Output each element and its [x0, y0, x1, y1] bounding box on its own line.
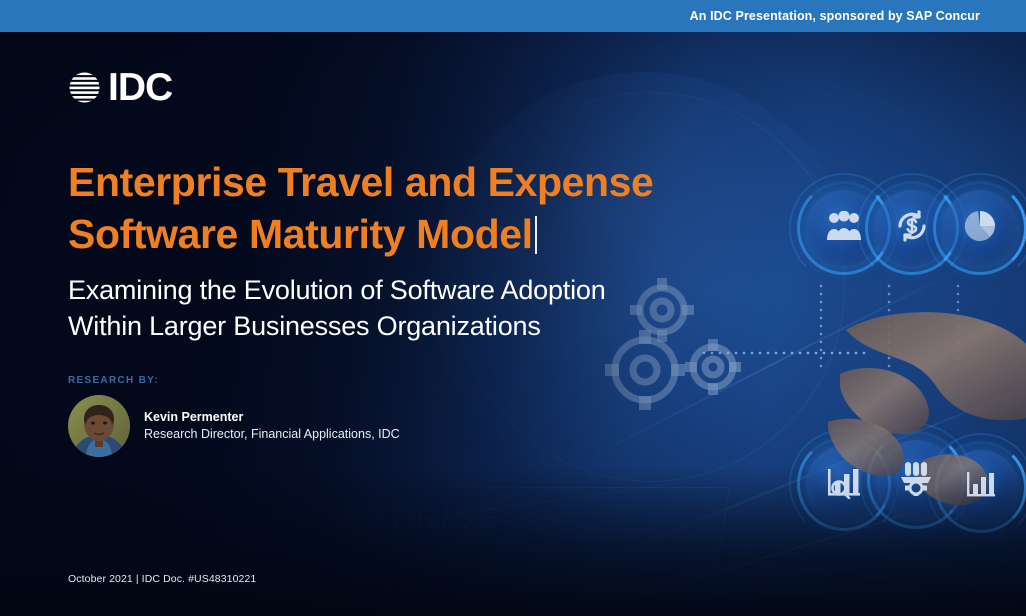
- page-title: Enterprise Travel and Expense Software M…: [68, 156, 808, 261]
- idc-wordmark: IDC: [108, 68, 172, 107]
- avatar: [68, 395, 130, 457]
- author-byline: Kevin Permenter Research Director, Finan…: [68, 395, 400, 457]
- sponsor-banner: An IDC Presentation, sponsored by SAP Co…: [0, 0, 1026, 32]
- page-title-line-1: Enterprise Travel and Expense: [68, 159, 653, 205]
- page-subtitle: Examining the Evolution of Software Adop…: [68, 273, 758, 345]
- idc-globe-icon: [68, 71, 101, 104]
- sponsor-banner-text: An IDC Presentation, sponsored by SAP Co…: [690, 9, 980, 23]
- text-cursor: [535, 216, 537, 254]
- document-footer: October 2021 | IDC Doc. #US48310221: [68, 573, 256, 585]
- author-details: Kevin Permenter Research Director, Finan…: [144, 409, 400, 443]
- page-title-line-2: Software Maturity Model: [68, 211, 533, 257]
- presentation-cover-slide: An IDC Presentation, sponsored by SAP Co…: [0, 0, 1026, 616]
- author-name: Kevin Permenter: [144, 409, 400, 426]
- page-subtitle-line-1: Examining the Evolution of Software Adop…: [68, 275, 606, 305]
- author-role: Research Director, Financial Application…: [144, 426, 400, 443]
- page-subtitle-line-2: Within Larger Businesses Organizations: [68, 311, 541, 341]
- research-by-label: RESEARCH BY:: [68, 375, 159, 386]
- idc-logo: IDC: [68, 68, 172, 107]
- cover-content: IDC Enterprise Travel and Expense Softwa…: [0, 32, 1026, 616]
